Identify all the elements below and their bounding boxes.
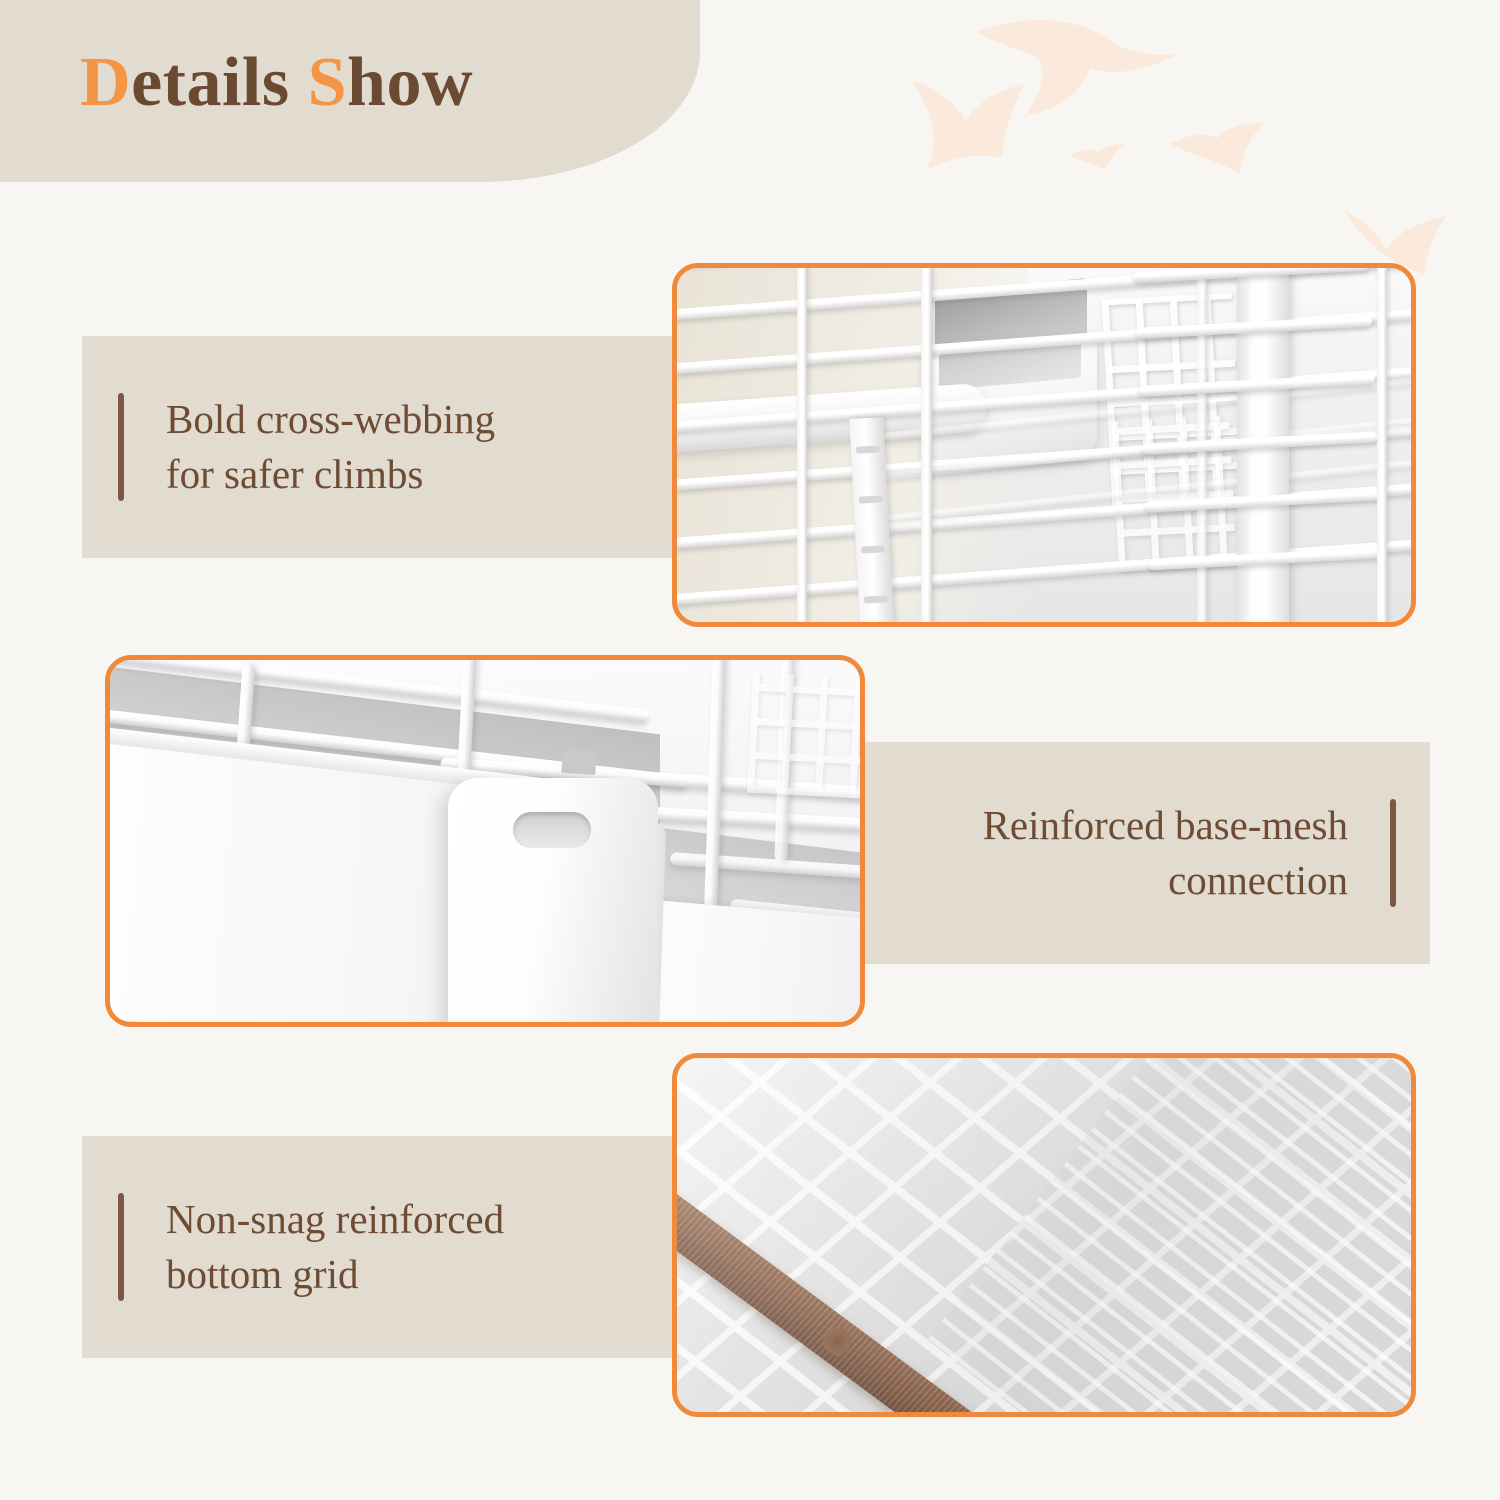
cage-bar [1142, 431, 1379, 454]
feature-caption-band-bottom-grid: Non-snag reinforced bottom grid [82, 1136, 688, 1358]
page-title-accent-d: D [80, 44, 131, 121]
feature-caption-text-base-mesh: Reinforced base-mesh connection [983, 798, 1348, 907]
cage-bar [1136, 315, 1373, 338]
cage-vertical-wire [921, 268, 932, 622]
page-title-accent-s: S [308, 44, 347, 121]
cage-bar [1133, 268, 1370, 283]
feature-caption-text-cross-webbing: Bold cross-webbing for safer climbs [166, 392, 495, 501]
feature-caption-band-base-mesh: Reinforced base-mesh connection [838, 742, 1430, 964]
bird-icon [972, 10, 1182, 120]
page-title-etails: etails [131, 44, 308, 121]
caption-line: Bold cross-webbing [166, 392, 495, 447]
mesh-clip-tab [561, 749, 597, 775]
feature-photo-bottom-grid [672, 1053, 1416, 1417]
photo-content-base-mesh [110, 660, 860, 1022]
cage-vertical-wire [797, 268, 807, 622]
ladder-rung [856, 445, 880, 453]
bird-icon [1168, 100, 1268, 180]
caption-line: bottom grid [166, 1247, 504, 1302]
caption-line: Non-snag reinforced [166, 1192, 504, 1247]
photo-content-cross-webbing [677, 268, 1411, 622]
accent-bar-icon [118, 393, 124, 501]
feature-photo-cross-webbing [672, 263, 1416, 627]
details-show-page: Details Show Bold cross-webbing for safe… [0, 0, 1500, 1500]
bird-decor-group [880, 0, 1500, 300]
bird-icon [1068, 140, 1126, 172]
caption-line: Reinforced base-mesh [983, 798, 1348, 853]
cage-bar [1145, 489, 1382, 512]
feature-caption-band-cross-webbing: Bold cross-webbing for safer climbs [82, 336, 688, 558]
page-title-how: how [347, 44, 473, 121]
bottom-grid-lighting [677, 1058, 1411, 1412]
ladder-rung [864, 595, 888, 603]
accent-bar-icon [1390, 799, 1396, 907]
photo-content-bottom-grid [677, 1058, 1411, 1412]
page-title: Details Show [80, 48, 473, 118]
accent-bar-icon [118, 1193, 124, 1301]
ladder-rung [861, 545, 885, 553]
feature-photo-base-mesh [105, 655, 865, 1027]
cage-vertical-wire [1377, 268, 1387, 622]
caption-line: for safer climbs [166, 447, 495, 502]
header-band: Details Show [0, 0, 700, 182]
bird-icon [904, 66, 1034, 176]
tray-right-wall [630, 898, 860, 1022]
base-mesh-background [747, 673, 860, 800]
ladder-rung [858, 495, 882, 503]
feature-caption-text-bottom-grid: Non-snag reinforced bottom grid [166, 1192, 504, 1301]
cage-right-bars [1132, 268, 1411, 622]
tray-handle-grip-slot [513, 812, 591, 848]
cage-bar [1148, 547, 1385, 570]
caption-line: connection [983, 853, 1348, 908]
cage-bar [1139, 373, 1376, 396]
